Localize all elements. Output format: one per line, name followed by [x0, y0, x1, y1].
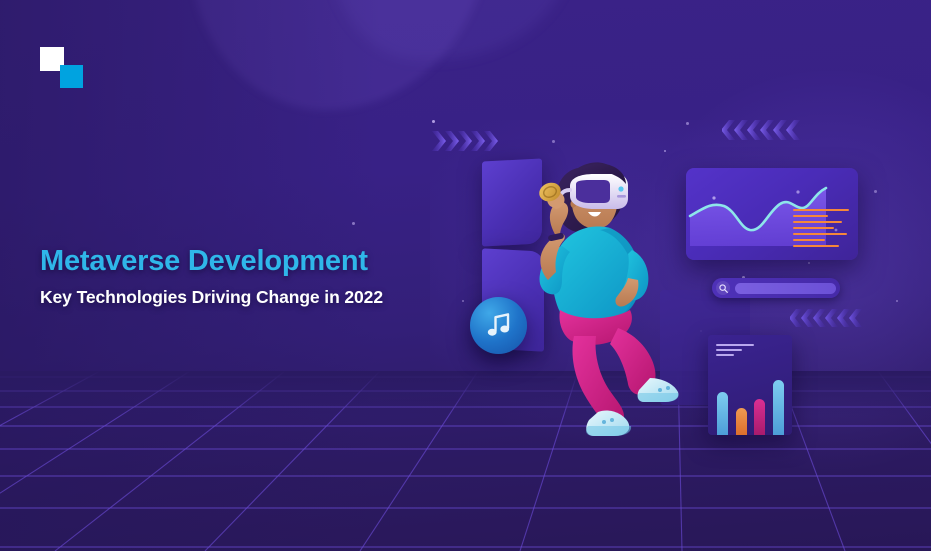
- bar-card-header-lines: [716, 344, 784, 356]
- page-subtitle: Key Technologies Driving Change in 2022: [40, 287, 470, 307]
- star-dot: [874, 190, 877, 193]
- person-with-vr-headset: [500, 150, 710, 450]
- hero-banner: Metaverse Development Key Technologies D…: [0, 0, 931, 551]
- vertical-bar-chart-card[interactable]: [708, 335, 792, 435]
- bar-2: [736, 408, 747, 435]
- bar-chart-plot: [717, 365, 784, 435]
- search-input[interactable]: [735, 283, 836, 294]
- star-dot: [432, 120, 435, 123]
- headline-block: Metaverse Development Key Technologies D…: [40, 246, 470, 307]
- line-area-chart-card[interactable]: [686, 168, 858, 260]
- star-dot: [686, 122, 689, 125]
- search-icon: [716, 281, 730, 295]
- star-dot: [352, 222, 355, 225]
- logo-square-cyan: [60, 65, 83, 88]
- bar-1: [717, 392, 728, 435]
- star-dot: [552, 140, 555, 143]
- star-dot: [808, 262, 810, 264]
- chevron-group-left-mid-right: [790, 307, 862, 329]
- bar-4: [773, 380, 784, 435]
- bar-3: [754, 399, 765, 435]
- chevron-group-right-top-left: [432, 128, 502, 154]
- chart-card-side-bars: [793, 209, 849, 251]
- chevron-group-left-top-right: [722, 118, 800, 142]
- page-title: Metaverse Development: [40, 246, 470, 278]
- search-bar[interactable]: [712, 278, 840, 298]
- star-dot: [896, 300, 898, 302]
- logo[interactable]: [40, 47, 88, 89]
